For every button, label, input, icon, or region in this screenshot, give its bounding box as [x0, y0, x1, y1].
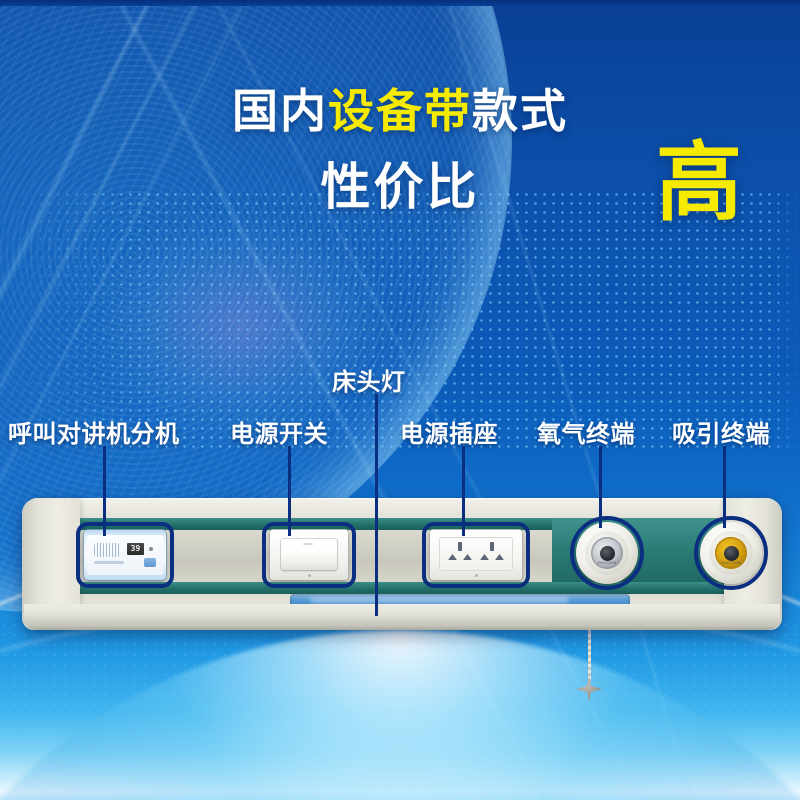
callout-leader-oxygen-terminal [599, 446, 602, 528]
headline-big-accent: 高 [656, 140, 742, 226]
callout-leader-power-switch [288, 446, 291, 536]
callout-leader-bed-lamp [375, 394, 378, 616]
callout-label-power-socket: 电源插座 [400, 414, 498, 449]
callout-label-bed-lamp: 床头灯 [332, 362, 406, 397]
callout-label-suction-terminal: 吸引终端 [672, 414, 770, 449]
callout-layer: 呼叫对讲机分机 电源开关 床头灯 电源插座 氧气终端 吸引终端 [0, 0, 800, 800]
callout-label-intercom: 呼叫对讲机分机 [8, 414, 180, 449]
callout-label-oxygen-terminal: 氧气终端 [537, 414, 635, 449]
callout-label-power-switch: 电源开关 [230, 414, 328, 449]
callout-leader-suction-terminal [723, 446, 726, 528]
callout-leader-intercom [103, 446, 106, 536]
callout-leader-power-socket [462, 446, 465, 536]
